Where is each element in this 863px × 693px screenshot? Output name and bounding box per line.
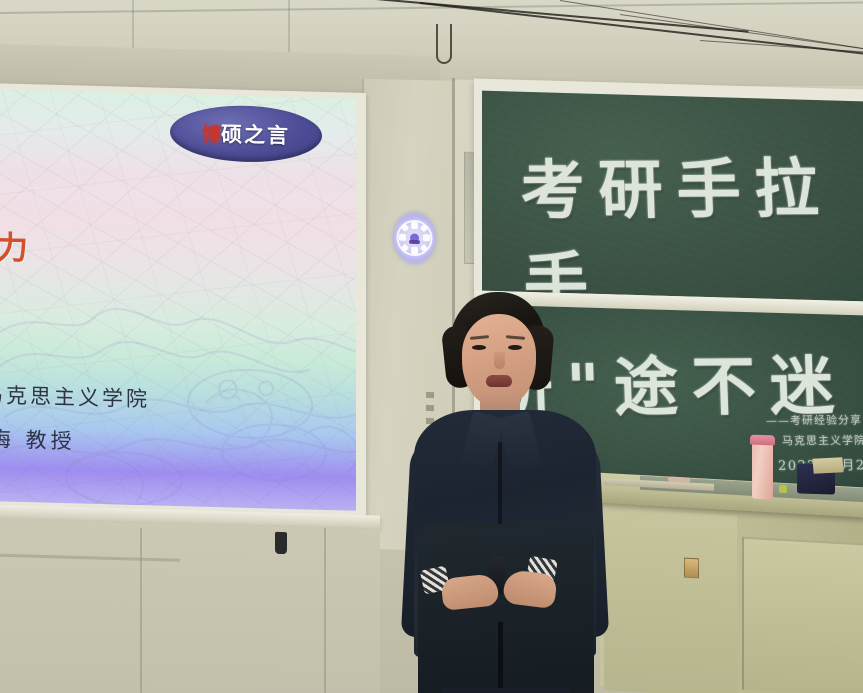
wainscot-seam-a: [140, 528, 142, 693]
chalk-piece: [668, 476, 690, 482]
presenter-mouth: [486, 375, 512, 387]
blackboard-headline-top: 考研手拉手: [519, 137, 863, 301]
cable-loop: [436, 24, 452, 64]
presenter-eye-right: [508, 345, 522, 350]
blackboard-upper-panel: 考研手拉手: [482, 91, 863, 302]
slide-logo-red-char: 博: [202, 119, 221, 146]
wainscot-seam-b: [324, 528, 326, 693]
presenter-eye-left: [472, 345, 486, 350]
khaki-folder: [812, 457, 843, 474]
slide-subtitle-text: 于努力: [0, 220, 34, 269]
wall-wainscot: [0, 517, 380, 693]
podium-front-panel: [742, 537, 863, 693]
blackboard-note-line-2: 马克思主义学院: [782, 432, 863, 449]
thermos-bottle: [752, 441, 773, 500]
classroom-photo-scene: 博 硕之言 考 于努力 范学院马克思主义学院 王晓梅 教授 考研手拉手 研"途不…: [0, 0, 863, 693]
projected-slide: 博 硕之言 考 于努力 范学院马克思主义学院 王晓梅 教授: [0, 89, 356, 511]
slide-presenter-text: 王晓梅 教授: [0, 422, 76, 456]
thermos-cap: [750, 435, 775, 446]
presenter-tunic: [418, 524, 594, 693]
podium-left-face: [604, 508, 737, 693]
presenter-nose: [494, 352, 505, 369]
presenter-trousers: [442, 688, 570, 693]
projection-screen-assembly: 博 硕之言 考 于努力 范学院马克思主义学院 王晓梅 教授: [0, 83, 366, 523]
wall-hook: [275, 532, 287, 554]
blackboard-note-line-1: ——考研经验分享: [766, 412, 863, 429]
slide-logo-white-text: 硕之言: [221, 118, 290, 150]
podium-latch: [684, 558, 699, 579]
presenter-tunic-slit: [498, 622, 503, 693]
green-small-object: [779, 485, 787, 493]
presenter-figure: [400, 292, 610, 693]
presenter-hand-left: [440, 573, 499, 611]
wall-emblem-radial-icon: [394, 213, 435, 264]
slide-organization-text: 范学院马克思主义学院: [0, 377, 150, 413]
